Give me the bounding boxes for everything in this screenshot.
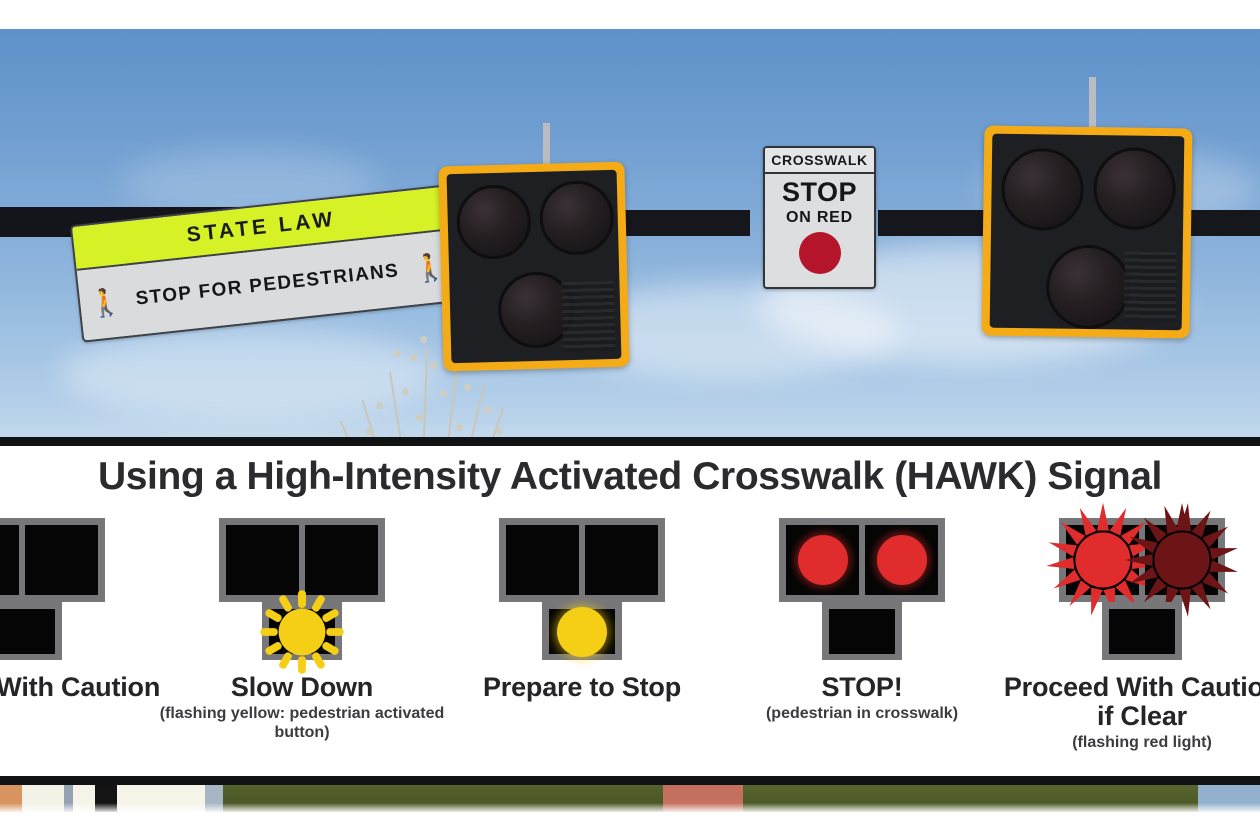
solid-yellow-icon [557,607,607,657]
crosswalk-label-row: CROSSWALK [765,148,874,174]
hawk-glyph [219,518,385,660]
step-caption: Prepare to Stop [437,673,727,702]
hawk-bottom-housing [1102,602,1182,660]
hawk-bottom-housing [0,602,62,660]
lens-top-right [25,525,98,595]
hawk-top-housing [0,518,105,602]
lens-bottom [0,609,55,654]
signal-sequence-row: Proceed With Caution [0,518,1260,753]
step-prepare-to-stop: Prepare to Stop [442,518,722,702]
step-caption-sub: (flashing yellow: pedestrian activated b… [157,705,447,742]
solid-red-icon [877,535,927,585]
next-photo-sliver [0,785,1260,815]
state-law-text: STATE LAW [186,208,337,248]
step-caption: Proceed With Caution if Clear (flashing … [997,673,1260,753]
lens-top-left [786,525,859,595]
signal-lens-red-left [456,184,532,260]
housing-vents [561,281,615,352]
signal-lens-red-right [1093,147,1176,230]
hawk-bottom-housing [262,602,342,660]
lens-top-left [0,525,19,595]
housing-vents [1124,252,1177,323]
step-caption: Proceed With Caution [0,673,167,702]
hawk-top-housing [779,518,945,602]
hawk-glyph [779,518,945,660]
hawk-signal-infographic-page: STATE LAW 🚶 STOP FOR PEDESTRIANS 🚶 CROSS… [0,0,1260,840]
step-proceed-if-clear: Proceed With Caution if Clear (flashing … [1002,518,1260,753]
page-title: Using a High-Intensity Activated Crosswa… [0,455,1260,499]
lens-top-right [585,525,658,595]
step-caption: STOP! (pedestrian in crosswalk) [717,673,1007,724]
lens-bottom [549,609,615,654]
hawk-sequence-panel: Using a High-Intensity Activated Crosswa… [0,446,1260,776]
signal-lens-red-right [539,180,615,256]
stop-text: STOP [765,177,874,208]
step-caption-sub: (flashing red light) [997,734,1260,752]
bottom-white-margin [0,812,1260,840]
divider-bar-top [0,437,1260,446]
top-white-margin [0,0,1260,29]
hawk-signal-head-left [438,162,629,372]
hawk-signal-head-right [982,126,1193,339]
hawk-bottom-housing [822,602,902,660]
hawk-signal-photo: STATE LAW 🚶 STOP FOR PEDESTRIANS 🚶 CROSS… [0,29,1260,437]
red-circle-icon [799,232,841,274]
step-proceed-with-caution: Proceed With Caution [0,518,162,702]
on-red-text: ON RED [765,209,874,227]
hawk-glyph [1059,518,1225,660]
solid-red-icon [798,535,848,585]
step-slow-down: Slow Down (flashing yellow: pedestrian a… [162,518,442,742]
crosswalk-stop-on-red-sign: CROSSWALK STOP ON RED [763,146,876,289]
divider-bar-bottom [0,776,1260,785]
lens-top-left [1066,525,1139,595]
step-caption-main: Prepare to Stop [437,673,727,702]
lens-bottom [269,609,335,654]
step-caption-main: Proceed With Caution [0,673,167,702]
lens-bottom [829,609,895,654]
hawk-glyph [499,518,665,660]
signal-lens-yellow-bottom [1046,244,1131,329]
hawk-top-housing [499,518,665,602]
pedestrian-icon: 🚶 [87,288,123,318]
signal-lens-red-left [1001,148,1084,231]
lens-bottom [1109,609,1175,654]
step-caption-sub: (pedestrian in crosswalk) [717,705,1007,723]
hawk-bottom-housing [542,602,622,660]
lens-top-right [865,525,938,595]
step-stop: STOP! (pedestrian in crosswalk) [722,518,1002,724]
hawk-glyph [0,518,105,660]
flashing-yellow-icon [250,580,354,684]
lens-top-right [1145,525,1218,595]
step-caption-main: STOP! [717,673,1007,702]
hawk-top-housing [1059,518,1225,602]
step-caption-main: Proceed With Caution if Clear [997,673,1260,731]
crosswalk-text: CROSSWALK [771,152,867,168]
lens-top-left [506,525,579,595]
stop-for-pedestrians-text: STOP FOR PEDESTRIANS [135,260,401,310]
